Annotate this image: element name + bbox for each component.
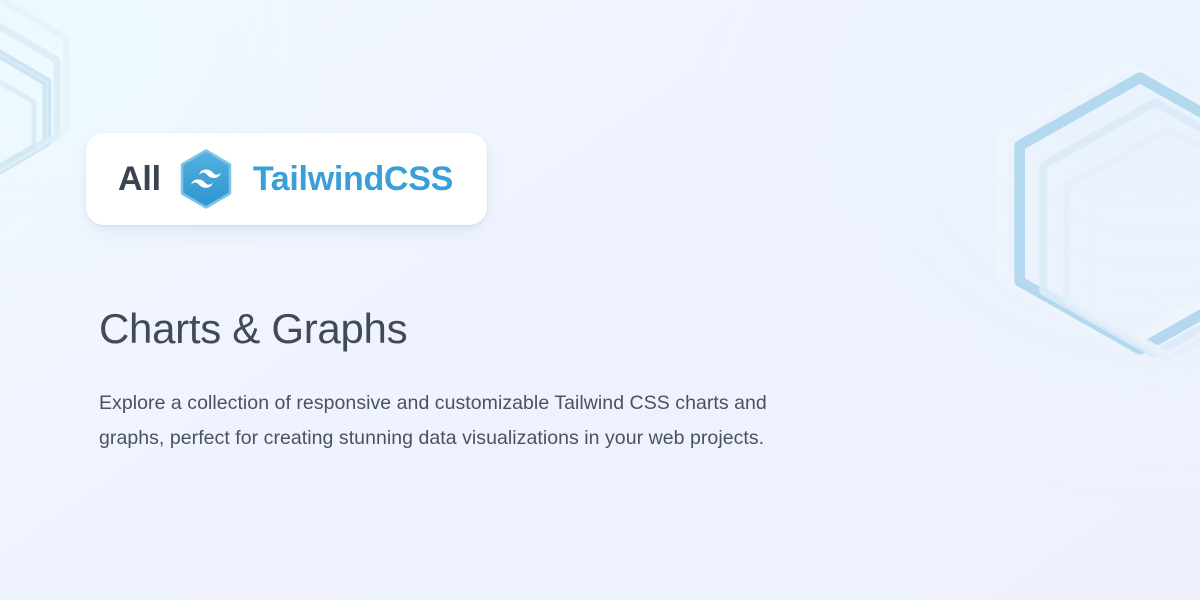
badge-prefix-label: All	[118, 162, 161, 196]
page-title: Charts & Graphs	[99, 305, 407, 353]
badge-brand-label: TailwindCSS	[253, 162, 453, 196]
page-description: Explore a collection of responsive and c…	[99, 386, 809, 456]
tailwind-hexagon-logo-icon	[175, 148, 237, 210]
hexagon-outline-cluster-icon	[930, 46, 1200, 446]
decorative-hexagons-right	[930, 46, 1200, 446]
tailwindcss-category-badge[interactable]: All TailwindCSS	[86, 133, 487, 225]
